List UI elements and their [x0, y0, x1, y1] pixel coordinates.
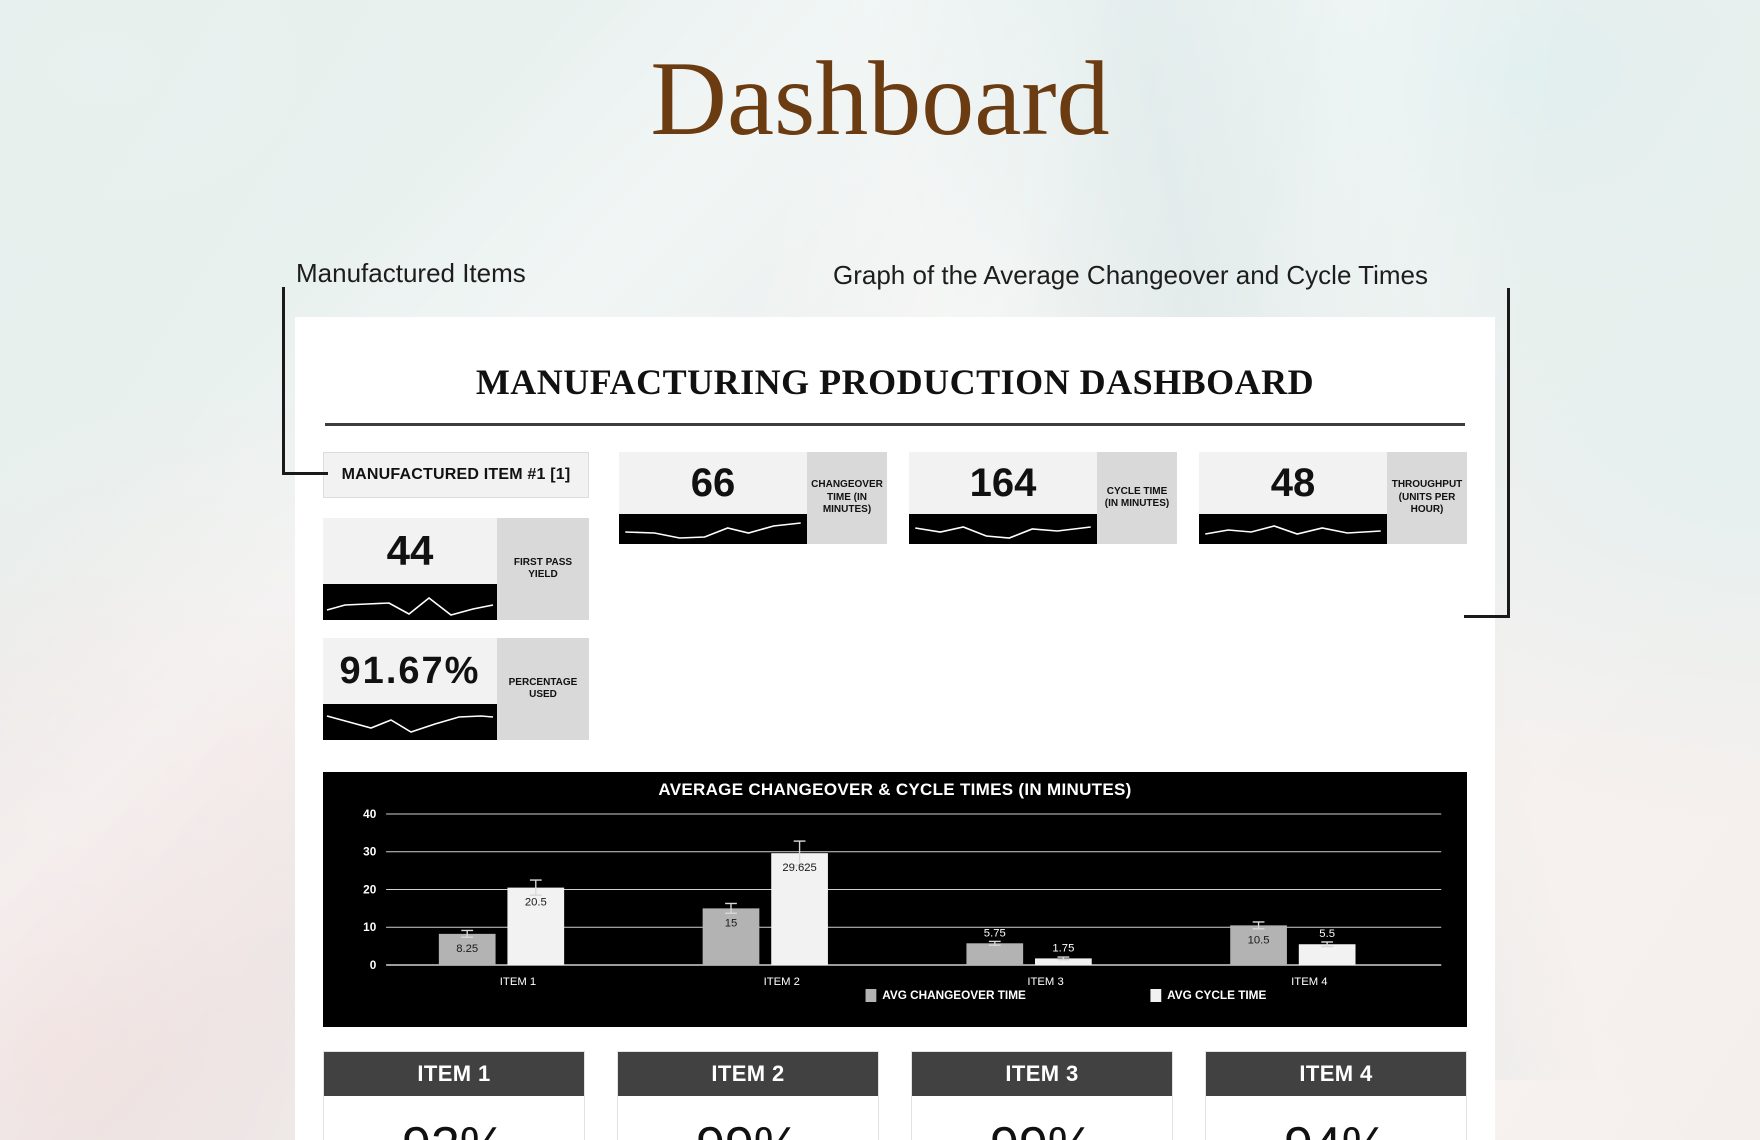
svg-text:AVG CHANGEOVER TIME: AVG CHANGEOVER TIME [882, 988, 1026, 1002]
svg-text:AVG CYCLE TIME: AVG CYCLE TIME [1167, 988, 1266, 1002]
sparkline-icon [909, 514, 1097, 544]
svg-text:15: 15 [725, 917, 738, 929]
item-card-value: 94% [1206, 1096, 1466, 1140]
item-card-title: ITEM 1 [324, 1052, 584, 1096]
item-card-value: 99% [618, 1096, 878, 1140]
svg-text:1.75: 1.75 [1052, 942, 1074, 954]
item-card[interactable]: ITEM 1 92% [323, 1051, 585, 1140]
svg-text:ITEM 2: ITEM 2 [764, 976, 800, 988]
sparkline-icon [323, 704, 497, 740]
dashboard-sheet: MANUFACTURING PRODUCTION DASHBOARD MANUF… [295, 317, 1495, 1140]
kpi-label: CHANGEOVER TIME (IN MINUTES) [807, 452, 887, 544]
kpi-label: PERCENTAGE USED [497, 638, 589, 740]
svg-text:0: 0 [370, 958, 377, 972]
dashboard-heading: MANUFACTURING PRODUCTION DASHBOARD [323, 361, 1467, 403]
item-card-value: 92% [324, 1096, 584, 1140]
item-card[interactable]: ITEM 3 99% [911, 1051, 1173, 1140]
svg-text:10.5: 10.5 [1248, 934, 1270, 946]
callout-bracket-right [1464, 288, 1510, 618]
svg-text:5.5: 5.5 [1319, 928, 1335, 940]
kpi-value: 44 [323, 518, 497, 584]
callout-bracket-left [282, 287, 328, 475]
page-title: Dashboard [0, 38, 1760, 160]
sparkline-icon [323, 584, 497, 620]
kpi-main: 164 [909, 452, 1097, 544]
svg-text:20.5: 20.5 [525, 897, 547, 909]
svg-text:30: 30 [363, 845, 376, 859]
svg-text:5.75: 5.75 [984, 927, 1006, 939]
kpi-card-throughput: 48 THROUGHPUT (UNITS PER HOUR) [1199, 452, 1467, 544]
kpi-label: THROUGHPUT (UNITS PER HOUR) [1387, 452, 1467, 544]
item-card-title: ITEM 4 [1206, 1052, 1466, 1096]
kpi-main: 44 [323, 518, 497, 620]
item-card[interactable]: ITEM 2 99% [617, 1051, 879, 1140]
svg-text:40: 40 [363, 807, 376, 821]
kpi-label: CYCLE TIME (IN MINUTES) [1097, 452, 1177, 544]
svg-text:20: 20 [363, 882, 376, 896]
callout-label-graph-changeover-cycle: Graph of the Average Changeover and Cycl… [833, 260, 1428, 291]
svg-text:29.625: 29.625 [782, 862, 816, 874]
kpi-main: 91.67% [323, 638, 497, 740]
chart-avg-changeover-cycle-times: AVERAGE CHANGEOVER & CYCLE TIMES (IN MIN… [323, 772, 1467, 1027]
kpi-card-changeover-time: 66 CHANGEOVER TIME (IN MINUTES) [619, 452, 887, 544]
callout-label-manufactured-items: Manufactured Items [296, 258, 526, 289]
svg-text:10: 10 [363, 920, 376, 934]
kpi-value: 164 [909, 452, 1097, 514]
kpi-card-first-pass-yield: 44 FIRST PASS YIELD [323, 518, 589, 620]
kpi-value: 66 [619, 452, 807, 514]
svg-text:8.25: 8.25 [456, 943, 478, 955]
svg-text:ITEM 1: ITEM 1 [500, 976, 536, 988]
kpi-left-column: MANUFACTURED ITEM #1 [1] 44 FIRST PASS Y… [323, 452, 589, 758]
kpi-card-cycle-time: 164 CYCLE TIME (IN MINUTES) [909, 452, 1177, 544]
manufactured-item-selector[interactable]: MANUFACTURED ITEM #1 [1] [323, 452, 589, 498]
svg-text:ITEM 3: ITEM 3 [1027, 976, 1063, 988]
kpi-row: MANUFACTURED ITEM #1 [1] 44 FIRST PASS Y… [323, 452, 1467, 758]
kpi-value: 48 [1199, 452, 1387, 514]
heading-divider [325, 423, 1465, 426]
sparkline-icon [1199, 514, 1387, 544]
kpi-main: 48 [1199, 452, 1387, 544]
item-percentage-cards: ITEM 1 92% ITEM 2 99% ITEM 3 99% ITEM 4 … [323, 1051, 1467, 1140]
top-kpi-strip: 66 CHANGEOVER TIME (IN MINUTES) 164 [619, 452, 1467, 562]
kpi-right-column: 66 CHANGEOVER TIME (IN MINUTES) 164 [619, 452, 1467, 758]
chart-plot-area: 0102030408.2520.5ITEM 11529.625ITEM 25.7… [335, 806, 1455, 1011]
kpi-main: 66 [619, 452, 807, 544]
svg-text:ITEM 4: ITEM 4 [1291, 976, 1327, 988]
chart-title: AVERAGE CHANGEOVER & CYCLE TIMES (IN MIN… [335, 780, 1455, 800]
item-card-value: 99% [912, 1096, 1172, 1140]
item-card-title: ITEM 3 [912, 1052, 1172, 1096]
kpi-value: 91.67% [323, 638, 497, 704]
kpi-label: FIRST PASS YIELD [497, 518, 589, 620]
sparkline-icon [619, 514, 807, 544]
item-card[interactable]: ITEM 4 94% [1205, 1051, 1467, 1140]
item-card-title: ITEM 2 [618, 1052, 878, 1096]
kpi-card-percentage-used: 91.67% PERCENTAGE USED [323, 638, 589, 740]
